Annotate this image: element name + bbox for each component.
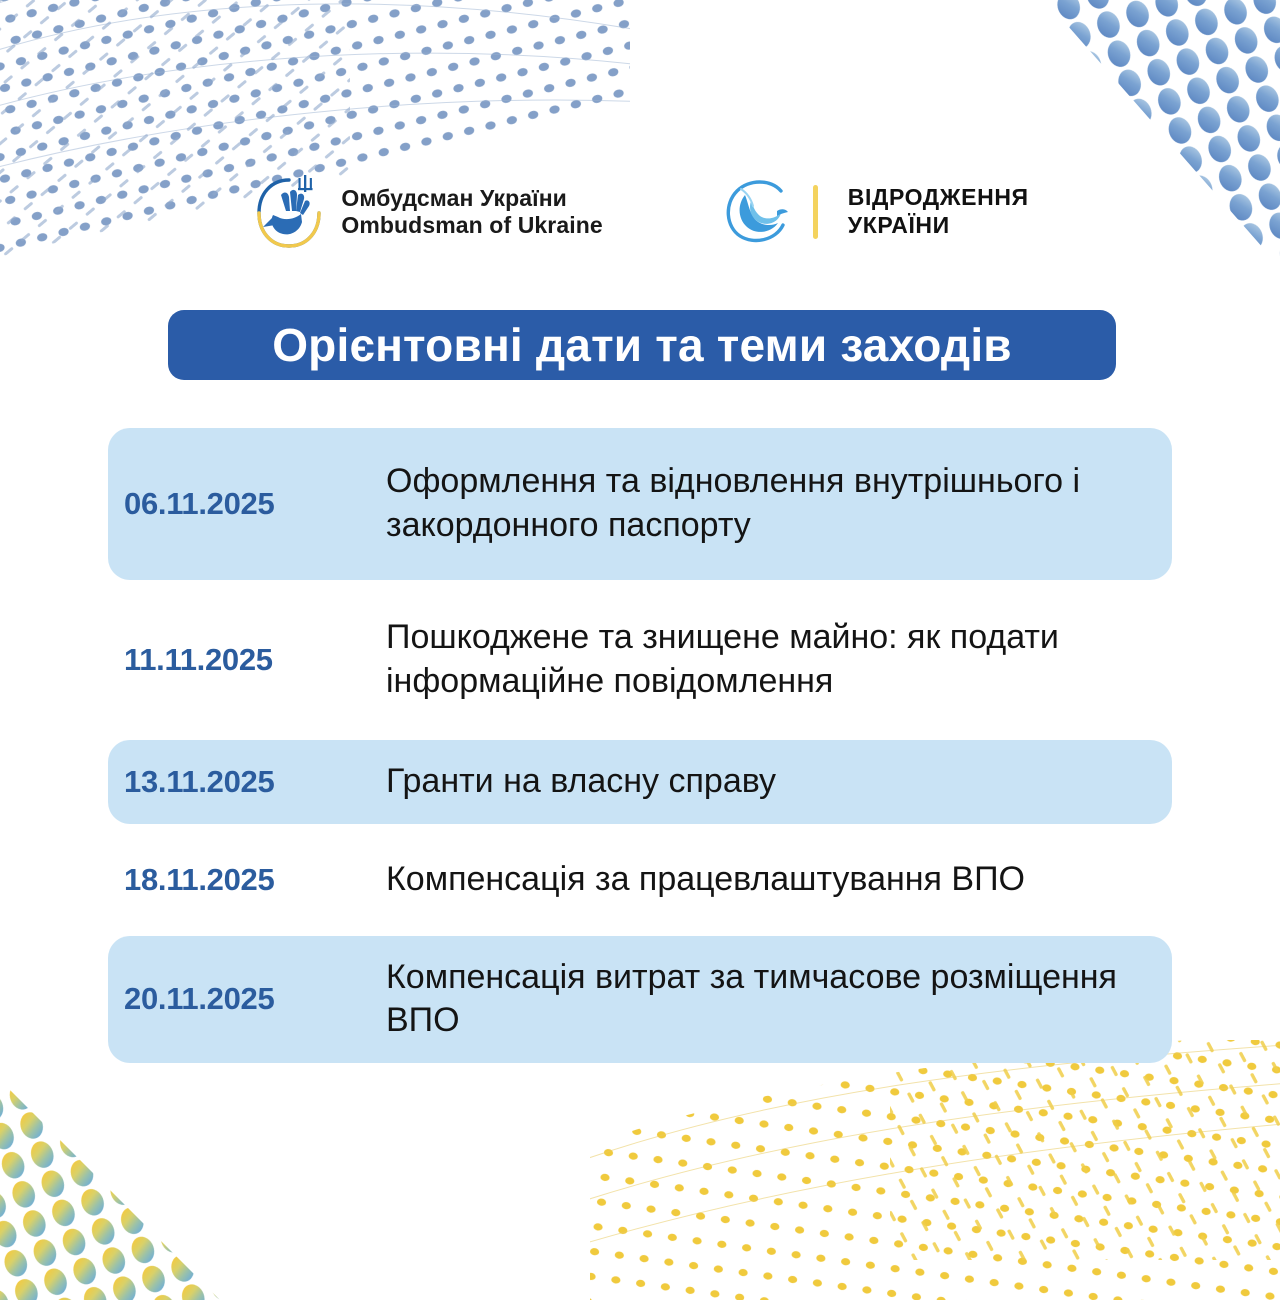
decoration-bottom-right [590,1040,1280,1300]
schedule-row-topic: Пошкоджене та знищене майно: як подати і… [386,616,1172,703]
logo-bar: Омбудсман України Ombudsman of Ukraine В… [0,162,1280,262]
schedule-row: 06.11.2025 Оформлення та відновлення вну… [108,428,1172,580]
page-title: Орієнтовні дати та теми заходів [272,318,1012,372]
vidrodzhennia-logo-text: ВІДРОДЖЕННЯ УКРАЇНИ [848,184,1029,239]
schedule-row-topic: Гранти на власну справу [386,760,1172,804]
schedule-row-topic: Оформлення та відновлення внутрішнього і… [386,460,1172,547]
page-title-banner: Орієнтовні дати та теми заходів [168,310,1116,380]
vidrodzhennia-logo: ВІДРОДЖЕННЯ УКРАЇНИ [721,175,1029,249]
schedule-list: 06.11.2025 Оформлення та відновлення вну… [108,428,1172,1063]
ombudsman-name-en: Ombudsman of Ukraine [341,212,602,239]
schedule-row-date: 11.11.2025 [108,642,386,678]
dove-hand-trident-icon [251,171,327,253]
schedule-row-topic: Компенсація за працевлаштування ВПО [386,858,1172,902]
schedule-row-date: 18.11.2025 [108,862,386,898]
ombudsman-logo: Омбудсман України Ombudsman of Ukraine [251,171,602,253]
ombudsman-name-uk: Омбудсман України [341,185,602,212]
phoenix-bird-circle-icon [721,175,795,249]
schedule-row-date: 06.11.2025 [108,486,386,522]
schedule-row: 20.11.2025 Компенсація витрат за тимчасо… [108,936,1172,1063]
schedule-row: 11.11.2025 Пошкоджене та знищене майно: … [108,580,1172,740]
schedule-row: 18.11.2025 Компенсація за працевлаштуван… [108,824,1172,936]
schedule-row: 13.11.2025 Гранти на власну справу [108,740,1172,824]
schedule-row-date: 13.11.2025 [108,764,386,800]
ombudsman-logo-text: Омбудсман України Ombudsman of Ukraine [341,185,602,239]
vidrodzhennia-line-1: ВІДРОДЖЕННЯ [848,184,1029,212]
vidrodzhennia-line-2: УКРАЇНИ [848,212,1029,240]
schedule-row-date: 20.11.2025 [108,981,386,1017]
vertical-divider-bar [813,185,818,239]
schedule-row-topic: Компенсація витрат за тимчасове розміщен… [386,956,1172,1043]
